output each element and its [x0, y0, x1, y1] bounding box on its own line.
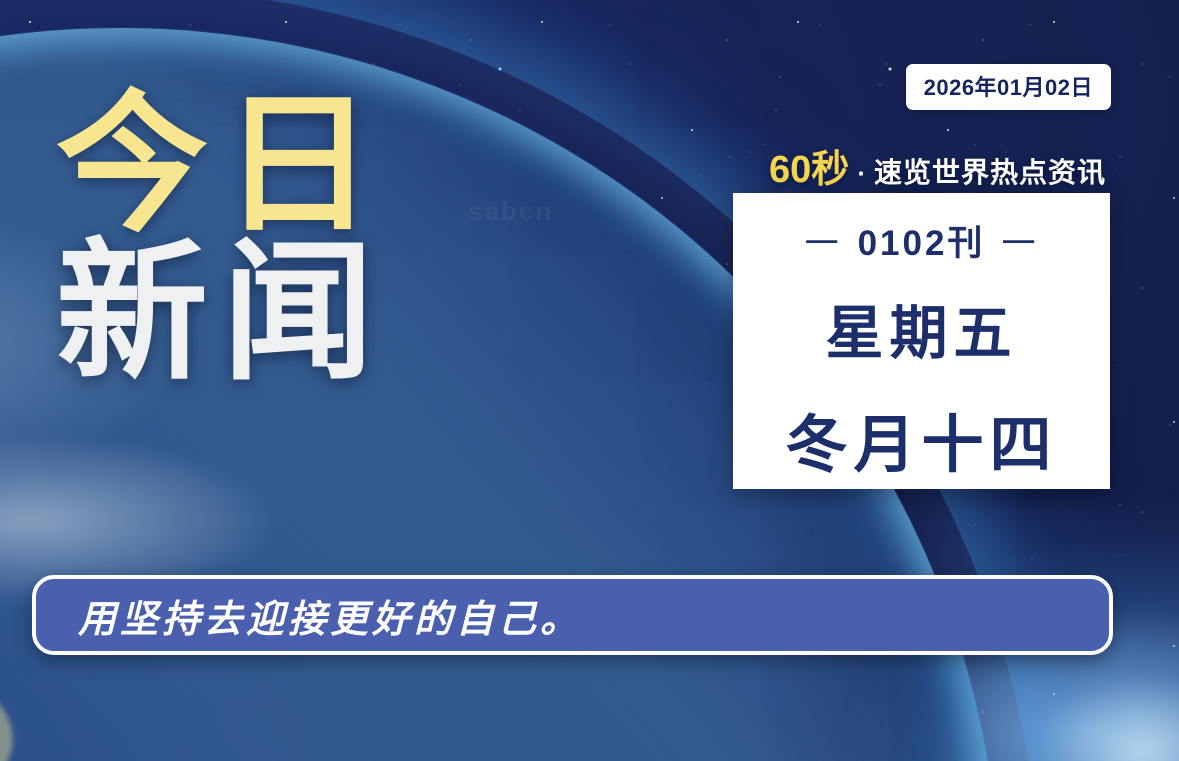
issue-number: 0102刊	[858, 215, 986, 266]
poster-content: 2026年01月02日 今日 新闻 60秒 · 速览世界热点资讯 一 0102刊…	[0, 0, 1179, 761]
tagline-text: 速览世界热点资讯	[874, 151, 1106, 191]
issue-dash-right: 一	[1001, 216, 1038, 265]
issue-dash-left: 一	[805, 216, 842, 265]
weekday-label: 星期五	[825, 286, 1017, 370]
tagline: 60秒 · 速览世界热点资讯	[769, 138, 1106, 193]
issue-info-card: 一 0102刊 一 星期五 冬月十四	[733, 193, 1110, 489]
tagline-seconds: 60秒	[769, 138, 849, 193]
masthead: 今日 新闻	[56, 96, 388, 384]
quote-bar: 用坚持去迎接更好的自己。	[32, 575, 1113, 655]
lunar-date-label: 冬月十四	[785, 394, 1057, 484]
news-poster: sabcn 2026年01月02日 今日 新闻 60秒 · 速览世界热点资讯 一…	[0, 0, 1179, 761]
date-badge: 2026年01月02日	[906, 64, 1111, 110]
tagline-separator: ·	[855, 158, 868, 189]
quote-text: 用坚持去迎接更好的自己。	[78, 588, 582, 643]
masthead-line-today: 今日	[56, 96, 388, 236]
issue-line: 一 0102刊 一	[805, 215, 1039, 266]
masthead-line-news: 新闻	[56, 244, 388, 384]
